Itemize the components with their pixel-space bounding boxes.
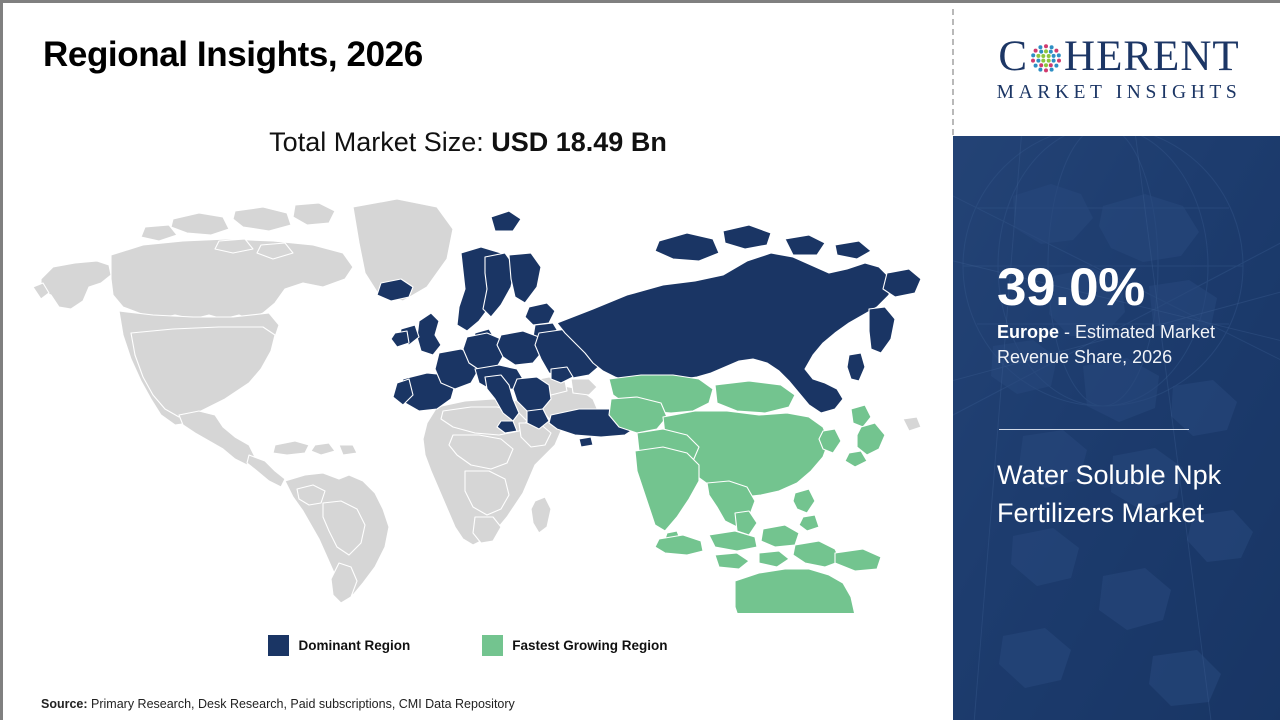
highlight-region: Europe	[997, 322, 1059, 342]
vertical-dashed-divider	[952, 9, 954, 135]
highlight-percentage: 39.0%	[997, 261, 1145, 314]
legend-item-fastest-growing: Fastest Growing Region	[482, 635, 667, 656]
legend-swatch-dominant	[268, 635, 289, 656]
logo-word-herent: HERENT	[1064, 35, 1240, 78]
map-region-misc	[903, 417, 921, 431]
company-logo: C	[955, 3, 1280, 136]
world-map-svg	[23, 183, 923, 613]
panel-divider-rule	[999, 429, 1189, 430]
map-region-south-america	[285, 473, 389, 603]
legend-label-dominant: Dominant Region	[298, 638, 410, 653]
world-map	[23, 183, 923, 613]
map-region-asia-pacific-fastest	[609, 375, 909, 613]
map-region-north-america	[33, 199, 453, 487]
market-name: Water Soluble Npk Fertilizers Market	[997, 456, 1257, 533]
map-legend: Dominant Region Fastest Growing Region	[3, 635, 933, 656]
page-title: Regional Insights, 2026	[43, 35, 423, 75]
highlight-panel-content: 39.0% Europe - Estimated Market Revenue …	[953, 136, 1280, 720]
market-size-label: Total Market Size:	[269, 127, 491, 157]
legend-label-fastest-growing: Fastest Growing Region	[512, 638, 667, 653]
highlight-caption: Europe - Estimated Market Revenue Share,…	[997, 320, 1263, 370]
source-prefix: Source:	[41, 697, 88, 711]
total-market-size: Total Market Size: USD 18.49 Bn	[3, 127, 933, 158]
globe-dots-icon	[1029, 42, 1063, 76]
source-text: Primary Research, Desk Research, Paid su…	[88, 697, 515, 711]
market-size-value: USD 18.49 Bn	[491, 127, 667, 157]
logo-subtitle: MARKET INSIGHTS	[997, 82, 1242, 104]
source-line: Source: Primary Research, Desk Research,…	[41, 697, 515, 711]
legend-item-dominant: Dominant Region	[268, 635, 410, 656]
highlight-panel: 39.0% Europe - Estimated Market Revenue …	[953, 136, 1280, 720]
logo-letter-c: C	[998, 35, 1028, 78]
logo-wordmark: C	[998, 35, 1239, 78]
infographic-frame: Regional Insights, 2026 Total Market Siz…	[0, 0, 1280, 720]
legend-swatch-fastest-growing	[482, 635, 503, 656]
left-panel: Regional Insights, 2026 Total Market Siz…	[3, 3, 952, 720]
